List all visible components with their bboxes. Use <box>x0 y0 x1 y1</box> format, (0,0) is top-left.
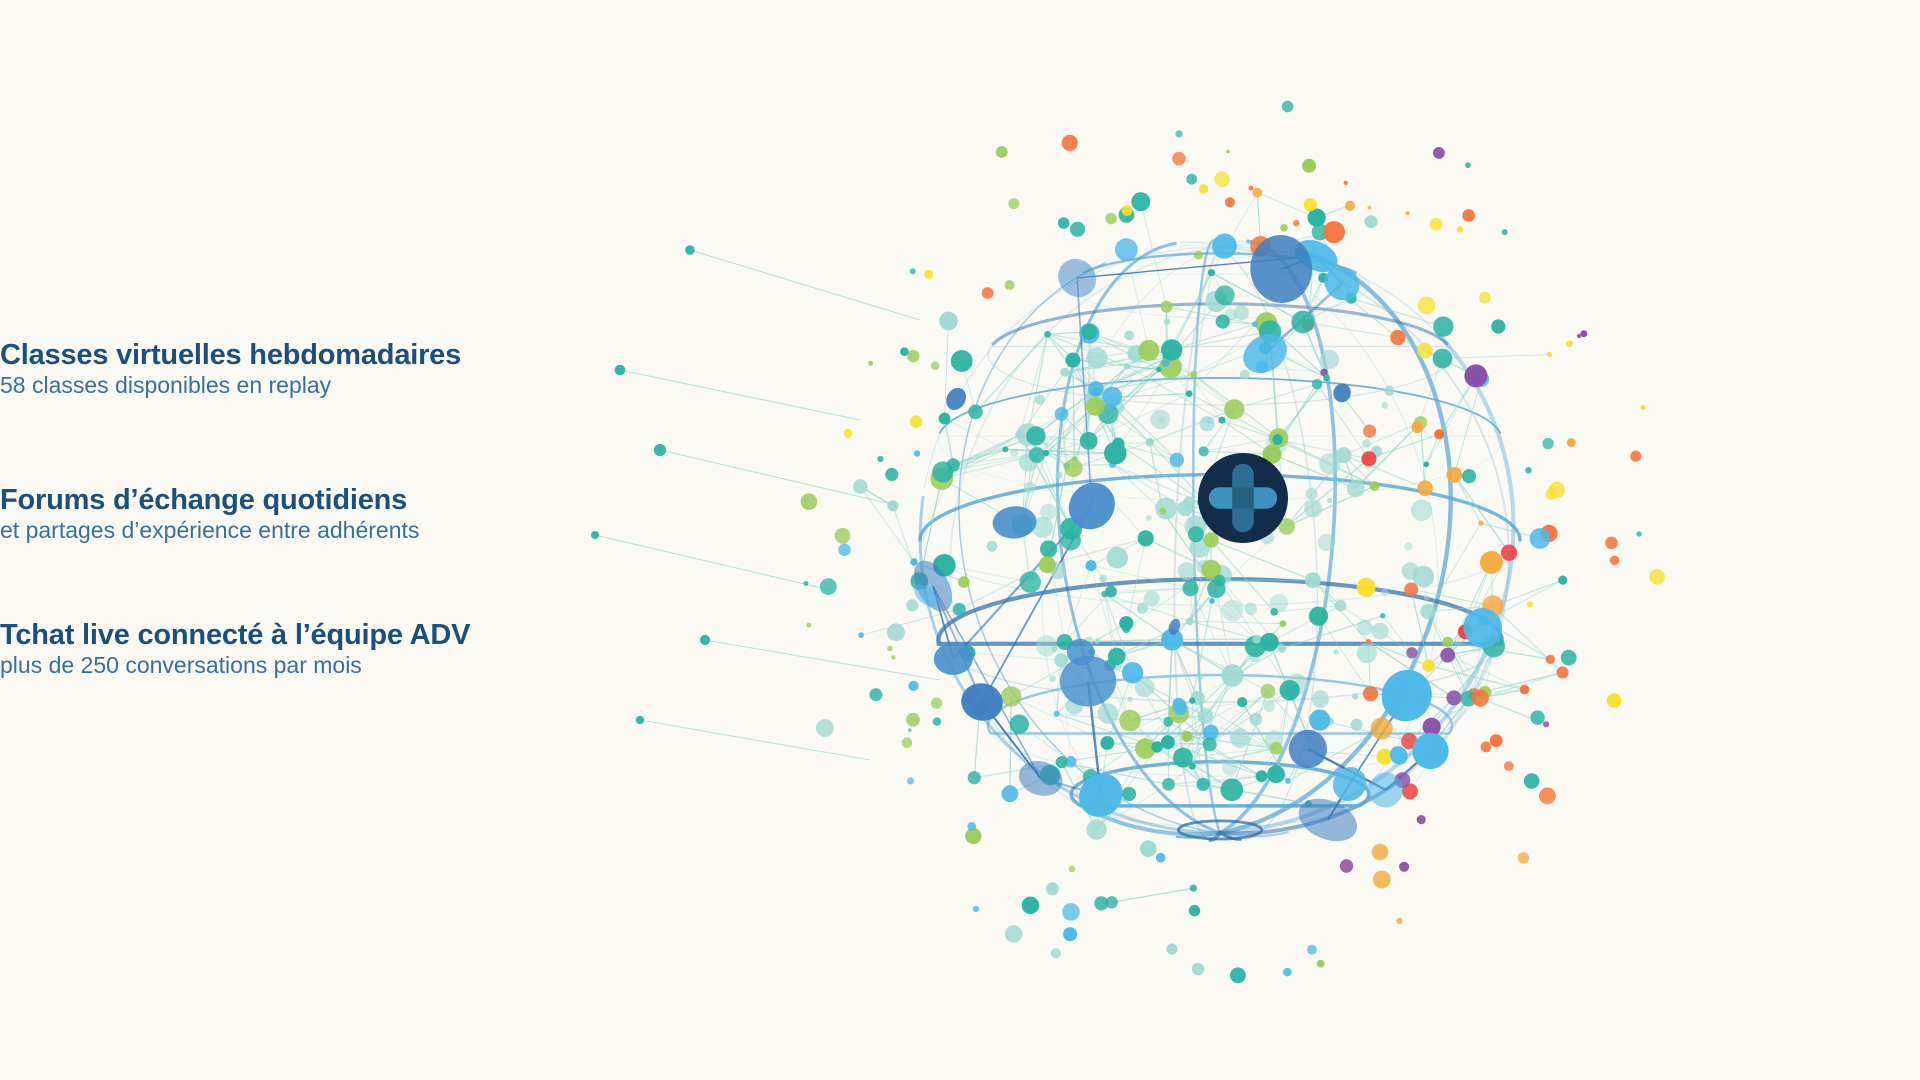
feature-subtitle-classes: 58 classes disponibles en replay <box>0 371 1105 400</box>
plus-cross-logo <box>1198 453 1288 543</box>
feature-item-tchat[interactable]: Tchat live connecté à l’équipe ADV plus … <box>0 620 910 680</box>
feature-subtitle-tchat: plus de 250 conversations par mois <box>0 651 1163 680</box>
feature-item-classes[interactable]: Classes virtuelles hebdomadaires 58 clas… <box>0 340 910 400</box>
plus-cross-logo-svg <box>1198 453 1288 543</box>
feature-subtitle-forums: et partages d’expérience entre adhérents <box>0 516 1115 545</box>
poster-canvas: Classes virtuelles hebdomadaires 58 clas… <box>0 0 1920 1080</box>
logo-bar-intersection <box>1232 487 1254 509</box>
feature-title-forums: Forums d’échange quotidiens <box>0 485 1128 515</box>
feature-item-forums[interactable]: Forums d’échange quotidiens et partages … <box>0 485 910 545</box>
feature-title-tchat: Tchat live connecté à l’équipe ADV <box>0 620 1022 650</box>
feature-title-classes: Classes virtuelles hebdomadaires <box>0 340 1034 370</box>
